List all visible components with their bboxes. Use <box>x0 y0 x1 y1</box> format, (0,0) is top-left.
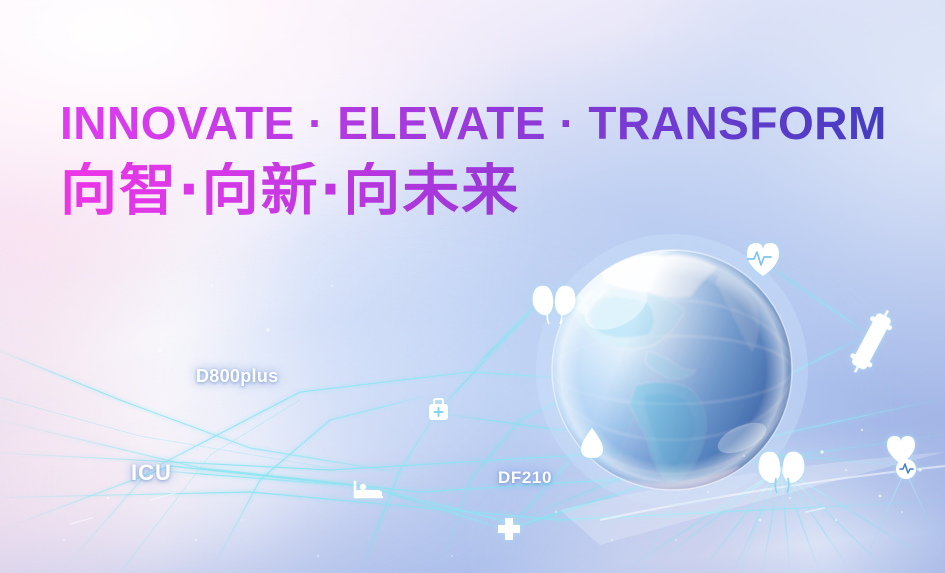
ribbon-streak <box>0 261 680 573</box>
background-right-glow <box>0 0 945 573</box>
banner-canvas: INNOVATE · ELEVATE · TRANSFORM 向智·向新·向未来… <box>0 0 945 573</box>
background-blue-glow <box>0 0 945 573</box>
medical-cross-icon <box>498 518 520 540</box>
ribbon-streak <box>410 391 945 573</box>
kidneys-icon <box>759 452 805 493</box>
label-icu: ICU <box>131 460 172 486</box>
sparkle-particles <box>0 0 945 573</box>
background-topleft-glow <box>0 0 945 573</box>
label-df210: DF210 <box>498 468 552 488</box>
background-base-gradient <box>0 0 945 573</box>
network-line-mesh <box>0 0 945 573</box>
earth-globe-graphic <box>0 0 945 573</box>
heart-monitor-icon <box>887 436 916 479</box>
dialyzer-icon <box>844 305 898 378</box>
radiating-light-rays <box>0 0 945 573</box>
headline-chinese: 向智·向新·向未来 <box>60 162 920 219</box>
background-pink-glow <box>0 0 945 573</box>
medical-icon-cluster <box>0 0 945 573</box>
background-bottom-glow <box>0 0 945 573</box>
heart-pulse-icon <box>747 243 779 276</box>
label-d800plus: D800plus <box>196 366 278 387</box>
hospital-bed-icon <box>355 482 382 497</box>
ribbon-streak <box>0 0 611 480</box>
light-ribbons <box>0 0 945 573</box>
water-drop-icon <box>581 428 603 458</box>
headline-english: INNOVATE · ELEVATE · TRANSFORM <box>60 100 920 146</box>
medical-bag-icon <box>429 399 448 420</box>
headline-block: INNOVATE · ELEVATE · TRANSFORM 向智·向新·向未来 <box>60 100 920 219</box>
kidneys-icon <box>533 286 576 324</box>
